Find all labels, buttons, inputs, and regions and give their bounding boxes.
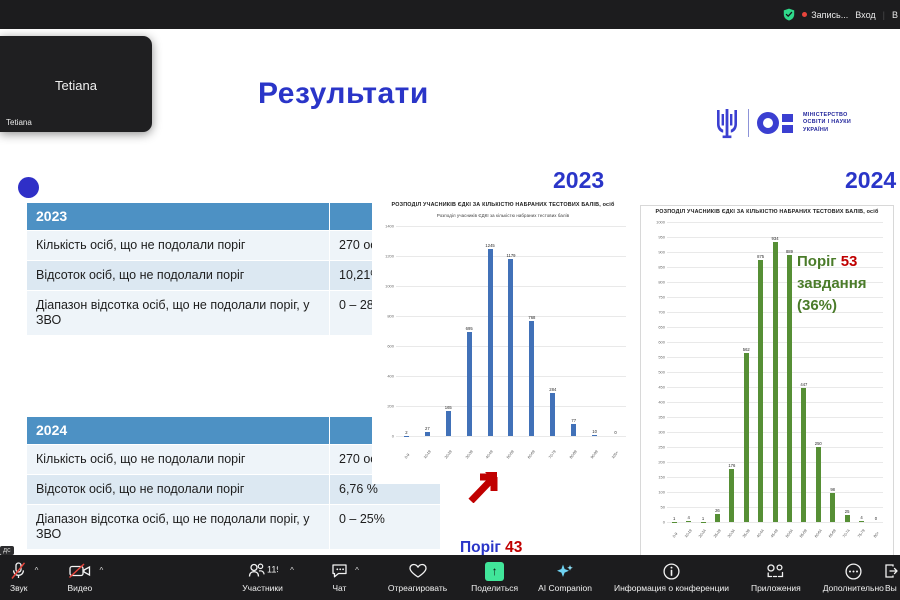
chart-bar (801, 388, 806, 522)
chart-x-tick-label: 50-59 (506, 450, 515, 460)
chart-bar-item: 934 (768, 222, 782, 522)
chart-bar-value-label: 4 (860, 515, 862, 520)
chart-bar-value-label: 77 (571, 418, 576, 423)
chart-x-tick-label: 80-89 (569, 450, 578, 460)
participants-label: Участники (242, 583, 283, 593)
page-title: Результати (258, 77, 429, 111)
chart-bar-item: 176 (725, 222, 739, 522)
chart-bar (550, 393, 555, 436)
audio-button[interactable]: Звук ^ (10, 555, 27, 600)
ministry-line-2: ОСВІТИ І НАУКИ (803, 119, 851, 127)
chart-y-tick-label: 350 (658, 415, 665, 420)
chart-bar (845, 515, 850, 523)
threshold-caption-2023: Поріг 43 завдання (32,2%) (460, 538, 590, 555)
chart-bar-item: 0 (869, 222, 883, 522)
participants-button[interactable]: 119 Участники ^ (242, 555, 283, 600)
chart-x-label-slot: 75-79 (854, 536, 868, 540)
leave-icon (884, 563, 898, 580)
chart-bar-item: 562 (739, 222, 753, 522)
chart-y-tick-label: 150 (658, 475, 665, 480)
row-label: Діапазон відсотка осіб, що не подолали п… (27, 291, 329, 335)
self-view-name-corner: Tetiana (6, 118, 32, 127)
left-edge-chip: дс (0, 546, 14, 555)
chevron-up-icon-chat[interactable]: ^ (355, 566, 359, 575)
video-button[interactable]: Видео ^ (67, 555, 92, 600)
table-row: Діапазон відсотка осіб, що не подолали п… (27, 504, 440, 549)
chart-y-tick-label: 600 (658, 340, 665, 345)
chart-x-tick-label: 70-74 (842, 529, 851, 539)
chart-y-tick-label: 450 (658, 385, 665, 390)
red-arrow-icon-2023 (466, 461, 508, 508)
chart-y-tick-label: 200 (387, 404, 394, 409)
chart-x-tick-label: 30-39 (465, 450, 474, 460)
chart-x-label-slot: 70-74 (840, 536, 854, 540)
chart-bar (508, 259, 513, 436)
ministry-logo: МІНІСТЕРСТВО ОСВІТИ І НАУКИ УКРАЇНИ (714, 106, 851, 140)
chart-x-label-slot: 30-34 (725, 536, 739, 540)
chart-x-label-slot: 10-19 (417, 457, 438, 461)
chart-subtitle: Розподіл учасників ЄДКІ за кількістю наб… (372, 209, 634, 220)
top-bar-right-group: Запись... Вход | В (783, 8, 898, 21)
row-label: Відсоток осіб, що не подолали поріг (27, 475, 329, 504)
chart-bar (729, 469, 734, 522)
chart-bar-value-label: 1 (702, 516, 704, 521)
chart-x-label-slot: 70-79 (542, 457, 563, 461)
chart-bar (425, 432, 430, 436)
chart-x-tick-label: 100+ (611, 451, 619, 460)
chart-x-tick-label: 75-79 (857, 529, 866, 539)
chart-bar-item: 284 (542, 226, 563, 436)
apps-label: Приложения (751, 583, 801, 593)
chart-y-tick-label: 250 (658, 445, 665, 450)
chart-title: РОЗПОДІЛ УЧАСНИКІВ ЄДКІ ЗА КІЛЬКІСТЮ НАБ… (372, 199, 634, 209)
record-dot-icon (802, 12, 807, 17)
chart-y-tick-label: 750 (658, 295, 665, 300)
apps-button[interactable]: Приложения (751, 555, 801, 600)
chart-bar (787, 255, 792, 522)
info-icon (663, 563, 680, 580)
chart-y-tick-label: 1400 (385, 224, 394, 229)
ai-companion-button[interactable]: AI Companion (538, 555, 592, 600)
chart-bar-item: 1179 (501, 226, 522, 436)
chart-x-label-slot: 65-69 (825, 536, 839, 540)
zoom-meeting-window: Запись... Вход | В Результати (0, 0, 900, 600)
chevron-up-icon-video[interactable]: ^ (100, 566, 104, 575)
chart-bar-item: 4 (681, 222, 695, 522)
year-header-2023: 2023 (553, 167, 604, 194)
chart-x-tick-label: 70-79 (548, 450, 557, 460)
chevron-up-icon-audio[interactable]: ^ (35, 566, 39, 575)
chart-x-tick-label: 20-24 (698, 529, 707, 539)
chart-x-tick-label: 45-49 (770, 529, 779, 539)
chart-bar-item: 695 (459, 226, 480, 436)
chart-x-tick-label: 80+ (873, 531, 880, 538)
self-view-name: Tetiana (0, 78, 152, 93)
chart-y-tick-label: 0 (392, 434, 394, 439)
chart-bar (816, 447, 821, 522)
chart-x-axis-labels: 0-910-1920-2930-3940-4950-5960-6970-7980… (396, 457, 626, 461)
chart-x-tick-label: 60-69 (527, 450, 536, 460)
table-header-year: 2024 (27, 417, 329, 444)
chart-bar-value-label: 284 (549, 387, 556, 392)
chart-x-tick-label: 50-54 (785, 529, 794, 539)
chart-x-label-slot: 50-54 (782, 536, 796, 540)
chart-bar-value-label: 0 (614, 430, 616, 435)
bar-chart-2023: РОЗПОДІЛ УЧАСНИКІВ ЄДКІ ЗА КІЛЬКІСТЮ НАБ… (372, 199, 634, 484)
chart-y-tick-label: 1000 (656, 220, 665, 225)
chart-x-tick-label: 20-29 (444, 450, 453, 460)
sparkle-icon (555, 563, 575, 580)
camera-muted-icon (69, 563, 91, 580)
chart-bar (467, 332, 472, 436)
threshold-caption-2024: Поріг 53 завдання (36%) (797, 251, 867, 317)
chart-x-tick-label: 40-49 (485, 450, 494, 460)
chart-gridline (667, 522, 883, 523)
chart-bar-value-label: 562 (743, 347, 750, 352)
chart-bar-item: 2 (396, 226, 417, 436)
bullet-dot-icon (18, 177, 39, 198)
meeting-controls-toolbar: Звук ^ Видео ^ 119 (0, 555, 900, 600)
video-label: Видео (67, 583, 92, 593)
chart-y-tick-label: 850 (658, 265, 665, 270)
chart-x-tick-label: 60-64 (814, 529, 823, 539)
meeting-top-bar: Запись... Вход | В (0, 0, 900, 29)
recording-indicator[interactable]: Запись... (802, 10, 848, 20)
year-header-2024: 2024 (845, 167, 896, 194)
chart-x-label-slot: 0-9 (667, 536, 681, 540)
chat-button[interactable]: Чат ^ (331, 555, 348, 600)
chart-bar-item: 10 (584, 226, 605, 436)
chart-x-label-slot: 55-59 (797, 536, 811, 540)
chart-bar-value-label: 165 (445, 405, 452, 410)
chart-y-tick-label: 700 (658, 310, 665, 315)
chart-y-tick-label: 600 (387, 344, 394, 349)
chart-x-label-slot: 100+ (605, 457, 626, 461)
threshold-note: (36%) (797, 295, 867, 317)
chart-x-label-slot: 80-89 (563, 457, 584, 461)
row-value: 0 – 25% (329, 505, 440, 549)
chart-bar-value-label: 875 (757, 254, 764, 259)
chart-bar (686, 521, 691, 522)
chart-bar-value-label: 695 (466, 326, 473, 331)
chart-y-tick-label: 500 (658, 370, 665, 375)
chart-y-tick-label: 100 (658, 490, 665, 495)
chart-bar-item: 0 (605, 226, 626, 436)
chart-bar-item: 768 (521, 226, 542, 436)
chart-bar (446, 411, 451, 436)
table-header-year: 2023 (27, 203, 329, 230)
chart-x-tick-label: 40-44 (756, 529, 765, 539)
chart-bar (744, 353, 749, 522)
chart-bar-value-label: 250 (815, 441, 822, 446)
chart-x-label-slot: 45-49 (768, 536, 782, 540)
leave-label: Вы (885, 583, 897, 593)
chart-bar-value-label: 934 (772, 236, 779, 241)
chart-y-tick-label: 550 (658, 355, 665, 360)
chart-x-label-slot: 80+ (869, 536, 883, 540)
chart-plot-area: 1400120010008006004002000227165695124511… (396, 226, 626, 436)
ministry-line-3: УКРАЇНИ (803, 127, 851, 135)
chart-bar-value-label: 25 (845, 509, 850, 514)
chart-bar (830, 493, 835, 522)
recording-label: Запись... (811, 10, 848, 20)
chart-y-tick-label: 400 (387, 374, 394, 379)
share-screen-icon: ↑ (485, 563, 504, 580)
ai-companion-label: AI Companion (538, 583, 592, 593)
threshold-suffix: завдання (797, 273, 867, 295)
chat-icon (331, 563, 348, 580)
more-label: Дополнительно (823, 583, 884, 593)
mon-circle-mark-icon (757, 112, 793, 134)
chart-x-tick-label: 25-29 (713, 529, 722, 539)
login-button[interactable]: Вход (855, 10, 875, 20)
chart-y-tick-label: 1200 (385, 254, 394, 259)
chart-y-tick-label: 800 (658, 280, 665, 285)
chart-bar-value-label: 0 (875, 516, 877, 521)
self-view-tile[interactable]: Tetiana Tetiana (0, 36, 152, 132)
chart-x-tick-label: 10-19 (684, 529, 693, 539)
threshold-number: 53 (841, 253, 858, 270)
chart-x-tick-label: 90-99 (590, 450, 599, 460)
chart-y-tick-label: 0 (663, 520, 665, 525)
chart-bar (715, 514, 720, 522)
heart-icon (409, 563, 427, 580)
chart-x-label-slot: 60-64 (811, 536, 825, 540)
chart-y-tick-label: 300 (658, 430, 665, 435)
more-button[interactable]: Дополнительно (823, 555, 884, 600)
row-label: Кількість осіб, що не подолали поріг (27, 445, 329, 474)
participants-icon: 119 (248, 563, 278, 580)
meeting-info-label: Информация о конференции (614, 583, 729, 593)
chart-bar-value-label: 27 (425, 426, 430, 431)
chart-x-label-slot: 35-39 (739, 536, 753, 540)
chart-bar-item: 889 (782, 222, 796, 522)
chart-bar-item: 1 (696, 222, 710, 522)
chart-x-tick-label: 10-19 (423, 450, 432, 460)
chart-y-tick-label: 50 (661, 505, 665, 510)
chart-x-axis-labels: 0-910-1920-2425-2930-3435-3940-4445-4950… (667, 536, 883, 540)
chart-gridline (396, 436, 626, 437)
chart-x-tick-label: 0-9 (404, 453, 410, 460)
chart-x-tick-label: 65-69 (828, 529, 837, 539)
chart-bar (758, 260, 763, 523)
row-label: Діапазон відсотка осіб, що не подолали п… (27, 505, 329, 549)
threshold-number: 43 (505, 539, 522, 555)
chart-bar-value-label: 176 (728, 463, 735, 468)
threshold-prefix: Поріг (460, 539, 505, 555)
chart-bar-value-label: 10 (592, 429, 597, 434)
chart-bar-item: 165 (438, 226, 459, 436)
chart-y-tick-label: 200 (658, 460, 665, 465)
chart-bar-value-label: 447 (800, 382, 807, 387)
chart-bars: 2271656951245117976828477100 (396, 226, 626, 436)
chart-bar-value-label: 889 (786, 249, 793, 254)
chart-bar-item: 26 (710, 222, 724, 522)
chart-bar-value-label: 4 (687, 515, 689, 520)
ukraine-trident-icon (714, 106, 740, 140)
row-label: Відсоток осіб, що не подолали поріг (27, 261, 329, 290)
chart-y-tick-label: 1000 (385, 284, 394, 289)
participants-count: 119 (267, 565, 278, 575)
share-screen-label: Поделиться (471, 583, 518, 593)
chart-bar (592, 435, 597, 436)
chart-x-label-slot: 20-24 (696, 536, 710, 540)
leave-button[interactable]: Вы (884, 555, 898, 600)
chart-bar-item: 1 (667, 222, 681, 522)
chart-bar-value-label: 26 (715, 508, 720, 513)
chart-x-tick-label: 55-59 (799, 529, 808, 539)
microphone-muted-icon (11, 563, 26, 580)
chart-bar-value-label: 98 (830, 487, 835, 492)
chart-bar-value-label: 1 (673, 516, 675, 521)
ministry-logo-text: МІНІСТЕРСТВО ОСВІТИ І НАУКИ УКРАЇНИ (803, 112, 851, 135)
chart-bar-item: 1245 (480, 226, 501, 436)
chart-bar-value-label: 2 (405, 430, 407, 435)
react-button[interactable]: Отреагировать (388, 555, 447, 600)
exit-button[interactable]: В (892, 10, 898, 20)
chart-x-tick-label: 0-9 (672, 532, 678, 539)
chart-bar-item: 875 (753, 222, 767, 522)
chart-x-label-slot: 40-44 (753, 536, 767, 540)
meeting-info-button[interactable]: Информация о конференции (614, 555, 729, 600)
chart-y-tick-label: 900 (658, 250, 665, 255)
chart-bar (488, 249, 493, 436)
chart-bar (859, 521, 864, 522)
row-label: Кількість осіб, що не подолали поріг (27, 231, 329, 260)
apps-icon (766, 563, 785, 580)
chart-title: РОЗПОДІЛ УЧАСНИКІВ ЄДКІ ЗА КІЛЬКІСТЮ НАБ… (641, 206, 893, 216)
chart-y-tick-label: 400 (658, 400, 665, 405)
chart-y-tick-label: 800 (387, 314, 394, 319)
chart-x-label-slot: 20-29 (438, 457, 459, 461)
chart-bar-value-label: 768 (528, 315, 535, 320)
chart-x-label-slot: 10-19 (681, 536, 695, 540)
chart-y-tick-label: 950 (658, 235, 665, 240)
chart-x-tick-label: 35-39 (742, 529, 751, 539)
chart-bar (571, 424, 576, 436)
chart-bar (529, 321, 534, 436)
logo-divider (748, 109, 749, 137)
top-bar-separator: | (883, 10, 885, 20)
chart-bar-item: 27 (417, 226, 438, 436)
more-dots-icon (845, 563, 862, 580)
audio-label: Звук (10, 583, 27, 593)
react-label: Отреагировать (388, 583, 447, 593)
chart-x-tick-label: 30-34 (727, 529, 736, 539)
chart-x-label-slot: 25-29 (710, 536, 724, 540)
chart-bar (773, 242, 778, 522)
chart-y-tick-label: 650 (658, 325, 665, 330)
share-screen-button[interactable]: ↑ Поделиться (471, 555, 518, 600)
chat-label: Чат (332, 583, 346, 593)
shield-check-icon[interactable] (783, 8, 795, 21)
threshold-prefix: Поріг (797, 253, 841, 270)
chart-bar-value-label: 1179 (506, 253, 515, 258)
chart-bar-item: 77 (563, 226, 584, 436)
chart-x-label-slot: 60-69 (521, 457, 542, 461)
chevron-up-icon-participants[interactable]: ^ (290, 566, 294, 575)
red-arrow-icon-2024 (745, 546, 787, 555)
chart-x-label-slot: 0-9 (396, 457, 417, 461)
ministry-line-1: МІНІСТЕРСТВО (803, 112, 851, 120)
chart-x-label-slot: 90-99 (584, 457, 605, 461)
chart-bar-value-label: 1245 (485, 243, 494, 248)
